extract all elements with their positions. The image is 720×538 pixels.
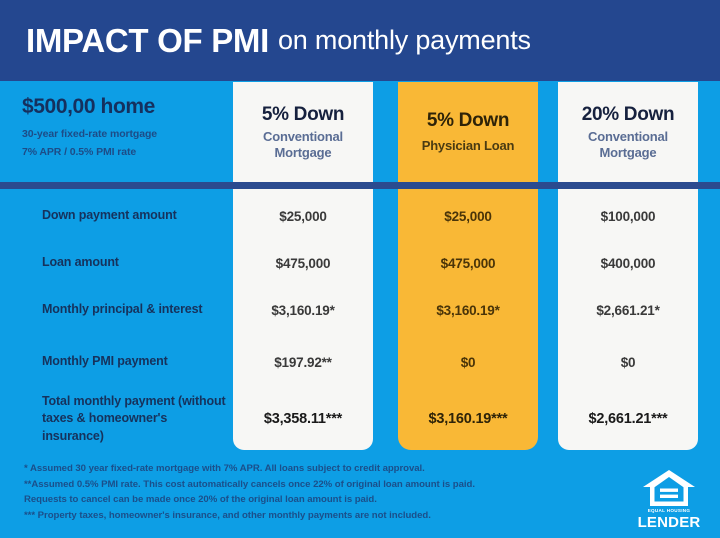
column-header-sub: Physician Loan [422, 138, 515, 154]
row-value: $197.92** [233, 355, 373, 370]
table-row-total: Total monthly payment (without taxes & h… [0, 392, 720, 446]
pmi-infographic: IMPACT OF PMI on monthly payments $500,0… [0, 0, 720, 538]
column-header-sub: Conventional Mortgage [558, 129, 698, 160]
footnote-line: *** Property taxes, homeowner's insuranc… [24, 508, 624, 524]
home-price-heading: $500,00 home [22, 95, 227, 118]
footnote-line: Requests to cancel can be made once 20% … [24, 492, 624, 508]
row-value: $3,358.11*** [233, 411, 373, 427]
row-value: $3,160.19*** [398, 411, 538, 427]
assumption-rates: 7% APR / 0.5% PMI rate [22, 145, 227, 161]
column-header-main: 5% Down [427, 110, 509, 131]
row-value: $100,000 [558, 209, 698, 224]
title-band: IMPACT OF PMI on monthly payments [0, 0, 720, 81]
row-value: $400,000 [558, 256, 698, 271]
row-label: Monthly principal & interest [42, 301, 232, 318]
column-header-sub: Conventional Mortgage [233, 129, 373, 160]
table-row: Loan amount $475,000 $475,000 $400,000 [0, 244, 720, 282]
comparison-table: $500,00 home 30-year fixed-rate mortgage… [0, 81, 720, 453]
row-value: $0 [558, 355, 698, 370]
footnote-line: * Assumed 30 year fixed-rate mortgage wi… [24, 461, 624, 477]
house-icon [641, 468, 697, 508]
loan-assumptions-block: $500,00 home 30-year fixed-rate mortgage… [22, 95, 227, 161]
column-header-conventional-20: 20% Down Conventional Mortgage [558, 82, 698, 182]
table-row: Down payment amount $25,000 $25,000 $100… [0, 193, 720, 239]
row-label: Loan amount [42, 254, 232, 271]
header-divider [0, 182, 720, 189]
row-value: $3,160.19* [398, 303, 538, 318]
logo-bottom-text: LENDER [638, 515, 701, 530]
footnote-line: **Assumed 0.5% PMI rate. This cost autom… [24, 477, 624, 493]
page-title-strong: IMPACT OF PMI [26, 24, 269, 57]
column-header-main: 20% Down [582, 104, 675, 125]
column-header-main: 5% Down [262, 104, 344, 125]
page-title-light: on monthly payments [278, 27, 531, 55]
equal-housing-lender-logo: EQUAL HOUSING LENDER [632, 468, 706, 530]
row-value: $3,160.19* [233, 303, 373, 318]
table-body: Down payment amount $25,000 $25,000 $100… [0, 189, 720, 453]
row-value: $25,000 [398, 209, 538, 224]
row-value: $2,661.21*** [558, 411, 698, 427]
row-label: Monthly PMI payment [42, 353, 232, 370]
row-value: $0 [398, 355, 538, 370]
column-header-conventional-5: 5% Down Conventional Mortgage [233, 82, 373, 182]
row-value: $475,000 [398, 256, 538, 271]
row-label: Down payment amount [42, 207, 232, 224]
row-value: $25,000 [233, 209, 373, 224]
table-row: Monthly principal & interest $3,160.19* … [0, 287, 720, 333]
table-row: Monthly PMI payment $197.92** $0 $0 [0, 339, 720, 385]
row-label: Total monthly payment (without taxes & h… [42, 393, 232, 445]
column-header-physician-loan: 5% Down Physician Loan [398, 82, 538, 182]
footnotes: * Assumed 30 year fixed-rate mortgage wi… [24, 461, 624, 523]
row-value: $2,661.21* [558, 303, 698, 318]
assumption-mortgage-type: 30-year fixed-rate mortgage [22, 127, 227, 143]
row-value: $475,000 [233, 256, 373, 271]
